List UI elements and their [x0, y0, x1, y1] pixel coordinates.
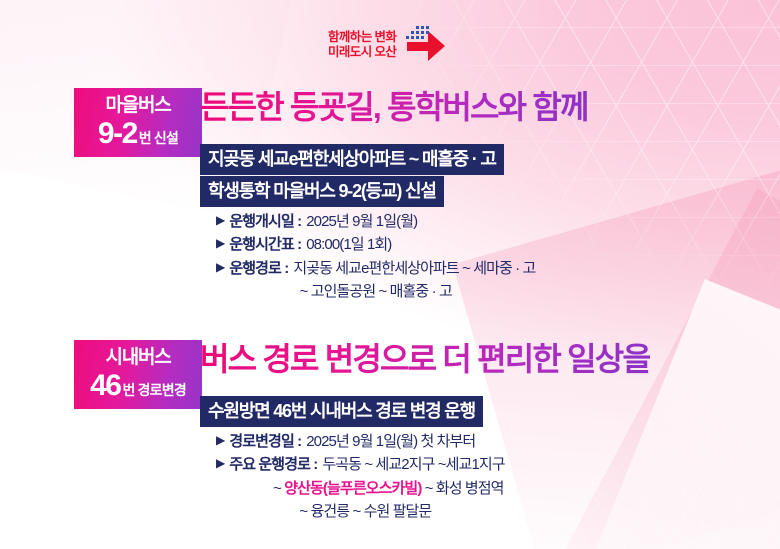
bar-city-notice: 수원방면 46번 시내버스 경로 변경 운행	[200, 396, 483, 427]
badge-city-number-row: 46 번 경로변경	[74, 370, 202, 402]
bullet-change-date-label: 경로변경일 :	[229, 430, 301, 453]
badge-village-number-row: 9-2 번 신설	[74, 118, 202, 150]
red-arrow-mark	[400, 25, 446, 65]
city-logo: 함께하는 변화 미래도시 오산	[328, 22, 478, 68]
badge-village-number: 9-2	[98, 118, 137, 150]
bullet-timetable-value: 08:00(1일 1회)	[306, 233, 391, 256]
badge-city-suffix: 번 경로변경	[122, 383, 186, 398]
bullet-main-route-value: 두곡동 ~ 세교2지구 ~세교1지구	[322, 453, 504, 476]
badge-city-title: 시내버스	[74, 346, 202, 370]
bullet-triangle-icon: ▶	[216, 210, 224, 231]
logo-line-1: 함께하는 변화	[328, 30, 396, 45]
bar-village-route: 지곶동 세교e편한세상아파트 ~ 매홀중 · 고	[200, 144, 504, 175]
route-suffix: ~ 화성 병점역	[421, 480, 503, 497]
bullet-triangle-icon: ▶	[216, 430, 224, 451]
route-prefix: ~	[273, 480, 284, 497]
bullet-route-value: 지곶동 세교e편한세상아파트 ~ 세마중 · 고	[293, 257, 535, 280]
bullet-change-date-value: 2025년 9월 1일(월) 첫 차부터	[306, 430, 475, 453]
poster-canvas: 함께하는 변화 미래도시 오산	[0, 0, 780, 549]
bullet-triangle-icon: ▶	[216, 233, 224, 254]
bullet-main-route-continuation-1: ~ 양산동(늘푸른오스카빌) ~ 화성 병점역	[216, 477, 505, 500]
bullet-timetable-label: 운행시간표 :	[229, 233, 301, 256]
badge-city-bus: 시내버스 46 번 경로변경	[74, 340, 202, 409]
logo-line-2: 미래도시 오산	[328, 45, 396, 60]
bullet-timetable: ▶ 운행시간표 : 08:00(1일 1회)	[216, 233, 535, 256]
badge-village-bus: 마을버스 9-2 번 신설	[74, 88, 202, 157]
bullets-village-bus: ▶ 운행개시일 : 2025년 9월 1일(월) ▶ 운행시간표 : 08:00…	[216, 210, 535, 303]
bullet-start-date-label: 운행개시일 :	[229, 210, 301, 233]
bullet-main-route-continuation-2: ~ 융건릉 ~ 수원 팔달문	[216, 500, 505, 523]
bullets-city-bus: ▶ 경로변경일 : 2025년 9월 1일(월) 첫 차부터 ▶ 주요 운행경로…	[216, 430, 505, 523]
logo-text: 함께하는 변화 미래도시 오산	[328, 30, 396, 60]
headline-city-bus: 버스 경로 변경으로 더 편리한 일상을	[200, 340, 650, 379]
badge-village-title: 마을버스	[74, 94, 202, 118]
bullet-route-continuation: ~ 고인돌공원 ~ 매홀중 · 고	[216, 280, 535, 303]
badge-city-number: 46	[90, 370, 120, 402]
bullet-start-date-value: 2025년 9월 1일(월)	[306, 210, 417, 233]
bullet-change-date: ▶ 경로변경일 : 2025년 9월 1일(월) 첫 차부터	[216, 430, 505, 453]
bullet-route: ▶ 운행경로 : 지곶동 세교e편한세상아파트 ~ 세마중 · 고	[216, 257, 535, 280]
route-highlight: 양산동(늘푸른오스카빌)	[284, 480, 421, 497]
bullet-triangle-icon: ▶	[216, 453, 224, 474]
bullet-main-route-label: 주요 운행경로 :	[229, 453, 317, 476]
headline-village-bus: 든든한 등굣길, 통학버스와 함께	[200, 88, 588, 127]
bar-village-notice: 학생통학 마을버스 9-2(등교) 신설	[200, 176, 444, 207]
bullet-triangle-icon: ▶	[216, 257, 224, 278]
bullet-route-label: 운행경로 :	[229, 257, 288, 280]
badge-village-suffix: 번 신설	[139, 131, 178, 146]
bullet-start-date: ▶ 운행개시일 : 2025년 9월 1일(월)	[216, 210, 535, 233]
bullet-main-route: ▶ 주요 운행경로 : 두곡동 ~ 세교2지구 ~세교1지구	[216, 453, 505, 476]
